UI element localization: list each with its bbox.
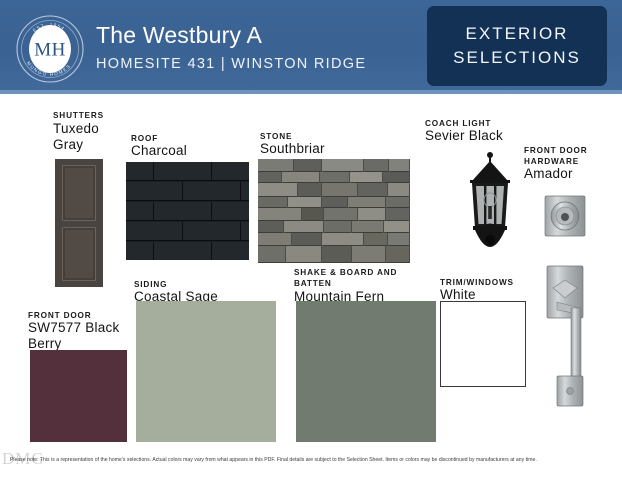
badge-line-1: EXTERIOR	[466, 22, 569, 46]
header-divider	[0, 90, 622, 94]
stone-row	[258, 197, 410, 208]
exterior-selections-badge: EXTERIOR SELECTIONS	[427, 6, 607, 86]
swatch-front-door-color	[30, 350, 127, 442]
plan-title: The Westbury A	[96, 20, 426, 50]
shutter-panel-top	[62, 165, 96, 221]
shingle-row	[126, 222, 249, 241]
svg-text:MH: MH	[34, 40, 66, 61]
swatch-shutters	[55, 159, 103, 287]
stone-row	[258, 233, 410, 246]
label-category-shutters: SHUTTERS	[53, 110, 104, 121]
swatch-shake-board-batten-color	[296, 301, 436, 442]
swatch-stone	[258, 159, 410, 263]
shingle-row	[126, 182, 249, 201]
label-name-roof: Charcoal	[131, 143, 187, 159]
title-block: The Westbury A HOMESITE 431 | WINSTON RI…	[96, 20, 426, 75]
shingle-row	[126, 242, 249, 260]
stone-row	[258, 221, 410, 233]
stone-row	[258, 246, 410, 263]
mungo-homes-logo: MH EST. 1954 MUNGO HOMES	[14, 13, 86, 85]
stone-row	[258, 172, 410, 183]
label-category-shake-board-batten: SHAKE & BOARD AND BATTEN	[294, 267, 397, 289]
exterior-selections-page: MH EST. 1954 MUNGO HOMES The Westbury A …	[0, 0, 622, 480]
footer-disclaimer: Please note: This is a representation of…	[10, 456, 616, 464]
swatch-trim-windows-color	[440, 301, 526, 387]
swatch-roof	[126, 162, 249, 260]
shutter-panel-bottom	[62, 227, 96, 281]
label-name-stone: Southbriar	[260, 141, 325, 157]
label-name-front-door: SW7577 Black Berry	[28, 320, 120, 352]
badge-line-2: SELECTIONS	[453, 46, 581, 70]
shingle-row	[126, 202, 249, 221]
label-name-door-hardware: Amador	[524, 166, 573, 182]
label-category-door-hardware: FRONT DOOR HARDWARE	[524, 145, 588, 167]
label-name-coach-light: Sevier Black	[425, 128, 503, 144]
stone-row	[258, 208, 410, 221]
label-name-shutters: Tuxedo Gray	[53, 121, 99, 153]
page-header: MH EST. 1954 MUNGO HOMES The Westbury A …	[0, 0, 622, 92]
swatch-door-hardware	[531, 190, 599, 412]
plan-subtitle: HOMESITE 431 | WINSTON RIDGE	[96, 53, 426, 75]
swatch-coach-light	[459, 150, 521, 265]
stone-row	[258, 183, 410, 197]
stone-row	[258, 159, 410, 172]
shingle-row	[126, 162, 249, 181]
swatch-siding-color	[136, 301, 276, 442]
